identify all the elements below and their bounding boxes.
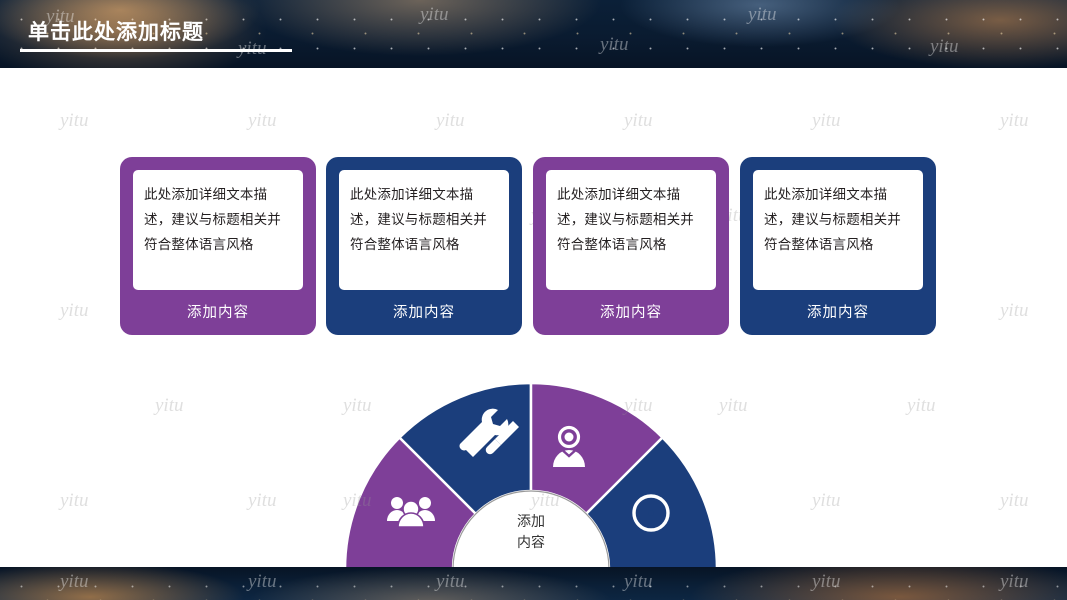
card-text-panel: 此处添加详细文本描述，建议与标题相关并符合整体语言风格: [131, 168, 305, 292]
watermark: yitu: [436, 110, 465, 132]
bottom-banner: yitu yitu yitu yitu yitu yitu: [0, 567, 1067, 600]
card-body-text: 此处添加详细文本描述，建议与标题相关并符合整体语言风格: [144, 182, 292, 257]
watermark: yitu: [248, 490, 277, 512]
watermark: yitu: [1000, 110, 1029, 132]
card-footer-label: 添加内容: [536, 301, 726, 322]
fan-center-line-1: 添加: [496, 511, 566, 532]
watermark: yitu: [60, 490, 89, 512]
fan-center-label: 添加 内容: [496, 511, 566, 553]
semicircle-diagram: 添加 内容: [345, 383, 717, 573]
card-footer-label: 添加内容: [329, 301, 519, 322]
content-card-4[interactable]: 此处添加详细文本描述，建议与标题相关并符合整体语言风格 添加内容: [740, 157, 936, 335]
watermark: yitu: [1000, 300, 1029, 322]
top-banner: yitu yitu yitu yitu yitu yitu 单击此处添加标题: [0, 0, 1067, 68]
watermark: yitu: [248, 110, 277, 132]
watermark: yitu: [719, 395, 748, 417]
watermark: yitu: [812, 490, 841, 512]
page-title: 单击此处添加标题: [28, 16, 204, 46]
content-card-1[interactable]: 此处添加详细文本描述，建议与标题相关并符合整体语言风格 添加内容: [120, 157, 316, 335]
fan-center-line-2: 内容: [496, 532, 566, 553]
watermark: yitu: [812, 110, 841, 132]
card-body-text: 此处添加详细文本描述，建议与标题相关并符合整体语言风格: [350, 182, 498, 257]
card-text-panel: 此处添加详细文本描述，建议与标题相关并符合整体语言风格: [337, 168, 511, 292]
card-footer-label: 添加内容: [743, 301, 933, 322]
watermark: yitu: [155, 395, 184, 417]
watermark: yitu: [907, 395, 936, 417]
card-body-text: 此处添加详细文本描述，建议与标题相关并符合整体语言风格: [557, 182, 705, 257]
watermark: yitu: [60, 300, 89, 322]
content-card-2[interactable]: 此处添加详细文本描述，建议与标题相关并符合整体语言风格 添加内容: [326, 157, 522, 335]
card-text-panel: 此处添加详细文本描述，建议与标题相关并符合整体语言风格: [544, 168, 718, 292]
card-text-panel: 此处添加详细文本描述，建议与标题相关并符合整体语言风格: [751, 168, 925, 292]
starfield-texture: [0, 567, 1067, 600]
watermark: yitu: [624, 110, 653, 132]
card-footer-label: 添加内容: [123, 301, 313, 322]
content-card-3[interactable]: 此处添加详细文本描述，建议与标题相关并符合整体语言风格 添加内容: [533, 157, 729, 335]
card-body-text: 此处添加详细文本描述，建议与标题相关并符合整体语言风格: [764, 182, 912, 257]
slide-canvas: yitu yitu yitu yitu yitu yitu 单击此处添加标题 y…: [0, 0, 1067, 600]
page-title-underline: 单击此处添加标题: [20, 16, 292, 52]
watermark: yitu: [1000, 490, 1029, 512]
watermark: yitu: [60, 110, 89, 132]
